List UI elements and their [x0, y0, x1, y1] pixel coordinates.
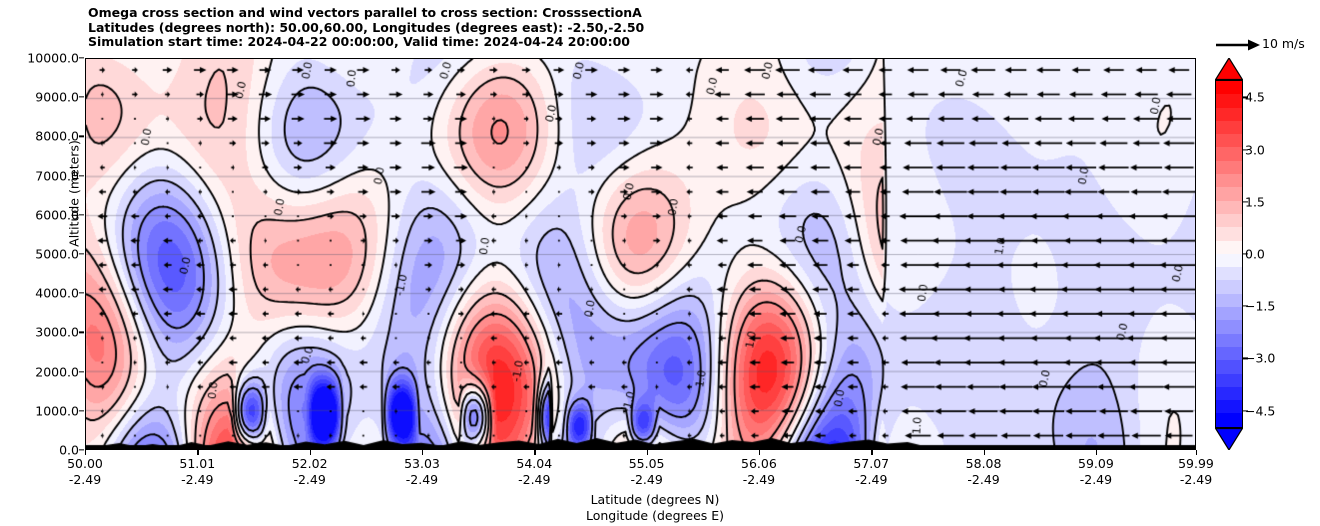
omega-field-canvas — [86, 59, 1195, 449]
colorbar-band — [1216, 108, 1242, 121]
colorbar-band — [1216, 161, 1242, 174]
y-tick-label: 5000.0 — [0, 247, 79, 262]
x-tick-mark — [984, 450, 985, 455]
colorbar-band — [1216, 360, 1242, 373]
colorbar-tick-mark — [1243, 306, 1248, 307]
colorbar-band — [1216, 201, 1242, 214]
x-tick-latitude: 50.00 — [25, 456, 145, 472]
colorbar-band — [1216, 374, 1242, 387]
x-tick-mark — [85, 450, 86, 455]
y-tick-label: 4000.0 — [0, 286, 79, 301]
colorbar-tick-mark — [1243, 149, 1248, 150]
colorbar-tick-mark — [1243, 253, 1248, 254]
x-tick-longitude: -2.49 — [587, 472, 707, 488]
y-tick-mark — [79, 449, 84, 450]
x-tick-mark — [534, 450, 535, 455]
colorbar-band — [1216, 214, 1242, 227]
x-tick-latitude: 55.05 — [587, 456, 707, 472]
x-tick-label: 57.07-2.49 — [811, 456, 931, 487]
x-tick-latitude: 51.01 — [137, 456, 257, 472]
colorbar-band — [1216, 134, 1242, 147]
x-tick-label: 52.02-2.49 — [250, 456, 370, 487]
x-tick-latitude: 52.02 — [250, 456, 370, 472]
colorbar-gradient — [1215, 80, 1243, 428]
x-tick-label: 56.06-2.49 — [699, 456, 819, 487]
cross-section-plot — [85, 58, 1196, 450]
x-tick-mark — [759, 450, 760, 455]
y-tick-label: 1000.0 — [0, 403, 79, 418]
colorbar-band — [1216, 121, 1242, 134]
colorbar-band — [1216, 94, 1242, 107]
colorbar-tick-mark — [1243, 410, 1248, 411]
colorbar-band — [1216, 227, 1242, 240]
x-tick-longitude: -2.49 — [924, 472, 1044, 488]
colorbar-band — [1216, 81, 1242, 94]
colorbar-tick-label: −4.5 — [1245, 403, 1275, 418]
x-tick-longitude: -2.49 — [474, 472, 594, 488]
x-tick-longitude: -2.49 — [250, 472, 370, 488]
colorbar-tick-mark — [1243, 97, 1248, 98]
y-tick-label: 7000.0 — [0, 168, 79, 183]
x-tick-mark — [1096, 450, 1097, 455]
y-tick-mark — [79, 293, 84, 294]
title-line-2: Latitudes (degrees north): 50.00,60.00, … — [88, 21, 1088, 36]
colorbar-tick-label: −1.5 — [1245, 299, 1275, 314]
colorbar-band — [1216, 320, 1242, 333]
colorbar-extend-max-icon — [1215, 58, 1243, 80]
y-tick-mark — [79, 410, 84, 411]
y-tick-mark — [79, 57, 84, 58]
colorbar-tick-label: −3.0 — [1245, 351, 1275, 366]
colorbar-band — [1216, 307, 1242, 320]
y-tick-label: 6000.0 — [0, 207, 79, 222]
x-tick-label: 59.99-2.49 — [1136, 456, 1256, 487]
y-tick-mark — [79, 97, 84, 98]
chart-title: Omega cross section and wind vectors par… — [88, 6, 1088, 50]
y-tick-mark — [79, 136, 84, 137]
x-tick-mark — [647, 450, 648, 455]
colorbar-band — [1216, 187, 1242, 200]
y-tick-label: 2000.0 — [0, 364, 79, 379]
y-tick-label: 8000.0 — [0, 129, 79, 144]
x-tick-latitude: 57.07 — [811, 456, 931, 472]
x-tick-label: 54.04-2.49 — [474, 456, 594, 487]
colorbar-band — [1216, 147, 1242, 160]
colorbar-tick-mark — [1243, 201, 1248, 202]
y-tick-label: 9000.0 — [0, 90, 79, 105]
x-tick-longitude: -2.49 — [362, 472, 482, 488]
x-tick-label: 53.03-2.49 — [362, 456, 482, 487]
x-tick-mark — [422, 450, 423, 455]
colorbar-band — [1216, 347, 1242, 360]
y-tick-mark — [79, 175, 84, 176]
colorbar-band — [1216, 254, 1242, 267]
x-tick-longitude: -2.49 — [25, 472, 145, 488]
x-tick-longitude: -2.49 — [1136, 472, 1256, 488]
x-tick-label: 55.05-2.49 — [587, 456, 707, 487]
x-tick-longitude: -2.49 — [699, 472, 819, 488]
colorbar-extend-min-icon — [1215, 428, 1243, 450]
x-tick-longitude: -2.49 — [137, 472, 257, 488]
x-tick-longitude: -2.49 — [811, 472, 931, 488]
y-tick-label: 3000.0 — [0, 325, 79, 340]
x-tick-mark — [197, 450, 198, 455]
title-line-1: Omega cross section and wind vectors par… — [88, 6, 1088, 21]
colorbar-band — [1216, 413, 1242, 426]
colorbar-band — [1216, 400, 1242, 413]
x-tick-latitude: 59.99 — [1136, 456, 1256, 472]
x-axis-label-longitude: Longitude (degrees E) — [525, 508, 785, 523]
x-tick-mark — [1196, 450, 1197, 455]
quiver-key-label: 10 m/s — [1262, 36, 1305, 51]
colorbar-band — [1216, 294, 1242, 307]
y-tick-mark — [79, 371, 84, 372]
x-tick-latitude: 53.03 — [362, 456, 482, 472]
x-tick-label: 50.00-2.49 — [25, 456, 145, 487]
colorbar-band — [1216, 241, 1242, 254]
title-line-3: Simulation start time: 2024-04-22 00:00:… — [88, 35, 1088, 50]
x-tick-mark — [871, 450, 872, 455]
colorbar-band — [1216, 174, 1242, 187]
x-tick-label: 51.01-2.49 — [137, 456, 257, 487]
colorbar-tick-mark — [1243, 358, 1248, 359]
x-tick-latitude: 58.08 — [924, 456, 1044, 472]
y-tick-mark — [79, 214, 84, 215]
colorbar-band — [1216, 280, 1242, 293]
y-tick-mark — [79, 253, 84, 254]
y-tick-label: 10000.0 — [0, 51, 79, 66]
x-tick-latitude: 56.06 — [699, 456, 819, 472]
colorbar-band — [1216, 387, 1242, 400]
x-axis-label-latitude: Latitude (degrees N) — [525, 492, 785, 507]
x-tick-mark — [310, 450, 311, 455]
colorbar — [1215, 58, 1243, 450]
y-tick-mark — [79, 332, 84, 333]
colorbar-band — [1216, 334, 1242, 347]
x-tick-label: 58.08-2.49 — [924, 456, 1044, 487]
colorbar-band — [1216, 267, 1242, 280]
x-tick-latitude: 54.04 — [474, 456, 594, 472]
